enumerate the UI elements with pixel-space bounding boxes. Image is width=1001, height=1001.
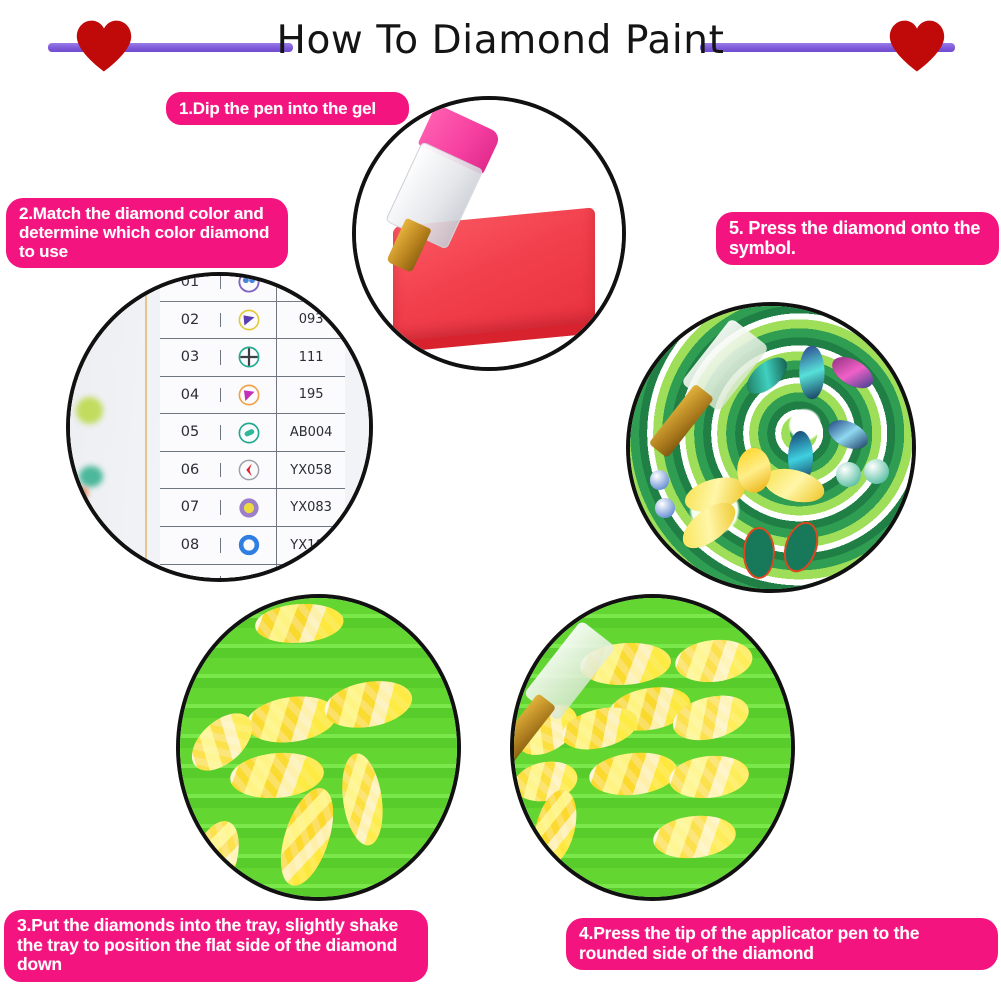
chart-number: 02 bbox=[160, 313, 222, 328]
chart-number: 05 bbox=[160, 425, 222, 440]
header: How To Diamond Paint bbox=[0, 0, 1001, 84]
chart-code: AB004 bbox=[277, 426, 345, 439]
table-row: 08 YX106 bbox=[160, 527, 345, 565]
step-3-label: 3.Put the diamonds into the tray, slight… bbox=[4, 910, 428, 982]
table-row: 02 093 bbox=[160, 302, 345, 340]
page-title: How To Diamond Paint bbox=[0, 18, 1001, 63]
step-2-label: 2.Match the diamond color and determine … bbox=[6, 198, 288, 268]
chart-code: YX125 bbox=[277, 576, 345, 582]
chevron-left-icon bbox=[221, 452, 277, 489]
table-row: 01 028 bbox=[160, 272, 345, 302]
ring-icon bbox=[221, 527, 277, 564]
chart-number: 09 bbox=[160, 576, 222, 582]
table-row: 06 YX058 bbox=[160, 452, 345, 490]
capsule-icon bbox=[221, 414, 277, 451]
chart-number: 01 bbox=[160, 275, 222, 290]
step-3-photo bbox=[176, 594, 461, 901]
chart-code: YX106 bbox=[277, 539, 345, 552]
chart-number: 07 bbox=[160, 500, 222, 515]
triangle-icon bbox=[221, 302, 277, 339]
table-row: 09 YX125 bbox=[160, 565, 345, 582]
table-row: 07 YX083 bbox=[160, 489, 345, 527]
triangle-icon bbox=[221, 377, 277, 414]
step-1-photo bbox=[352, 96, 626, 371]
chart-code: 111 bbox=[277, 351, 345, 364]
step-5-label: 5. Press the diamond onto the symbol. bbox=[716, 212, 999, 265]
chart-code: 028 bbox=[277, 276, 345, 289]
leaf-icon bbox=[221, 565, 277, 582]
color-chart-table: 01 028 02 bbox=[160, 272, 345, 582]
chart-number: 04 bbox=[160, 388, 222, 403]
table-row: 04 195 bbox=[160, 377, 345, 415]
double-dot-icon bbox=[221, 272, 277, 301]
chart-code: YX083 bbox=[277, 501, 345, 514]
step-4-photo bbox=[510, 594, 795, 901]
chart-code: 093 bbox=[277, 313, 345, 326]
chart-code: 195 bbox=[277, 388, 345, 401]
plus-cross-icon bbox=[221, 339, 277, 376]
chart-number: 08 bbox=[160, 538, 222, 553]
chart-number: 03 bbox=[160, 350, 222, 365]
infographic-canvas: How To Diamond Paint 1.Dip the pen into … bbox=[0, 0, 1001, 1001]
table-row: 03 111 bbox=[160, 339, 345, 377]
step-5-photo bbox=[626, 302, 916, 593]
chart-code: YX058 bbox=[277, 464, 345, 477]
step-4-label: 4.Press the tip of the applicator pen to… bbox=[566, 918, 998, 970]
table-row: 05 AB004 bbox=[160, 414, 345, 452]
step-2-photo: 01 028 02 bbox=[66, 272, 373, 582]
applicator-pen bbox=[510, 620, 616, 779]
dot-in-ring-icon bbox=[221, 489, 277, 526]
chart-number: 06 bbox=[160, 463, 222, 478]
